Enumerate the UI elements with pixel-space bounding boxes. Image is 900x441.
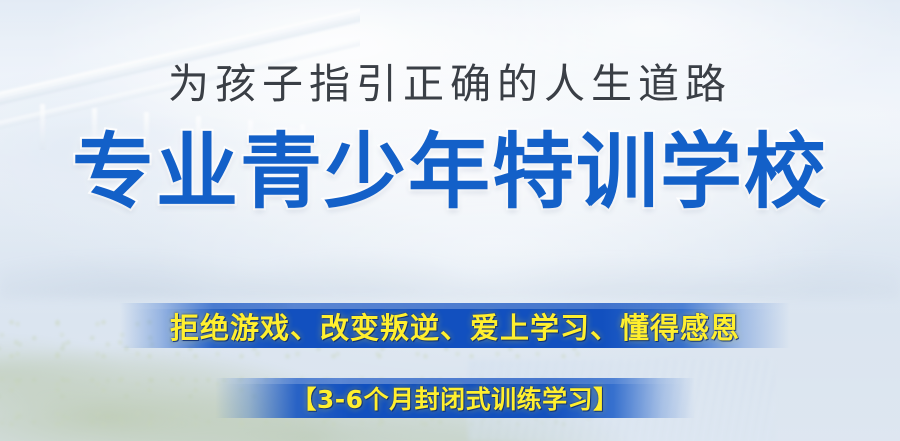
banner-band-secondary-text: 【3-6个月封闭式训练学习】 [291,380,618,416]
banner-subheadline: 为孩子指引正确的人生道路 [0,64,900,105]
banner-headline: 专业青少年特训学校 [0,132,900,214]
promo-banner: 为孩子指引正确的人生道路 专业青少年特训学校 拒绝游戏、改变叛逆、爱上学习、懂得… [0,0,900,441]
banner-band-primary-text: 拒绝游戏、改变叛逆、爱上学习、懂得感恩 [170,305,740,347]
banner-band-primary: 拒绝游戏、改变叛逆、爱上学习、懂得感恩 [120,303,790,348]
banner-content: 为孩子指引正确的人生道路 专业青少年特训学校 拒绝游戏、改变叛逆、爱上学习、懂得… [0,0,900,441]
banner-band-secondary: 【3-6个月封闭式训练学习】 [215,378,695,418]
